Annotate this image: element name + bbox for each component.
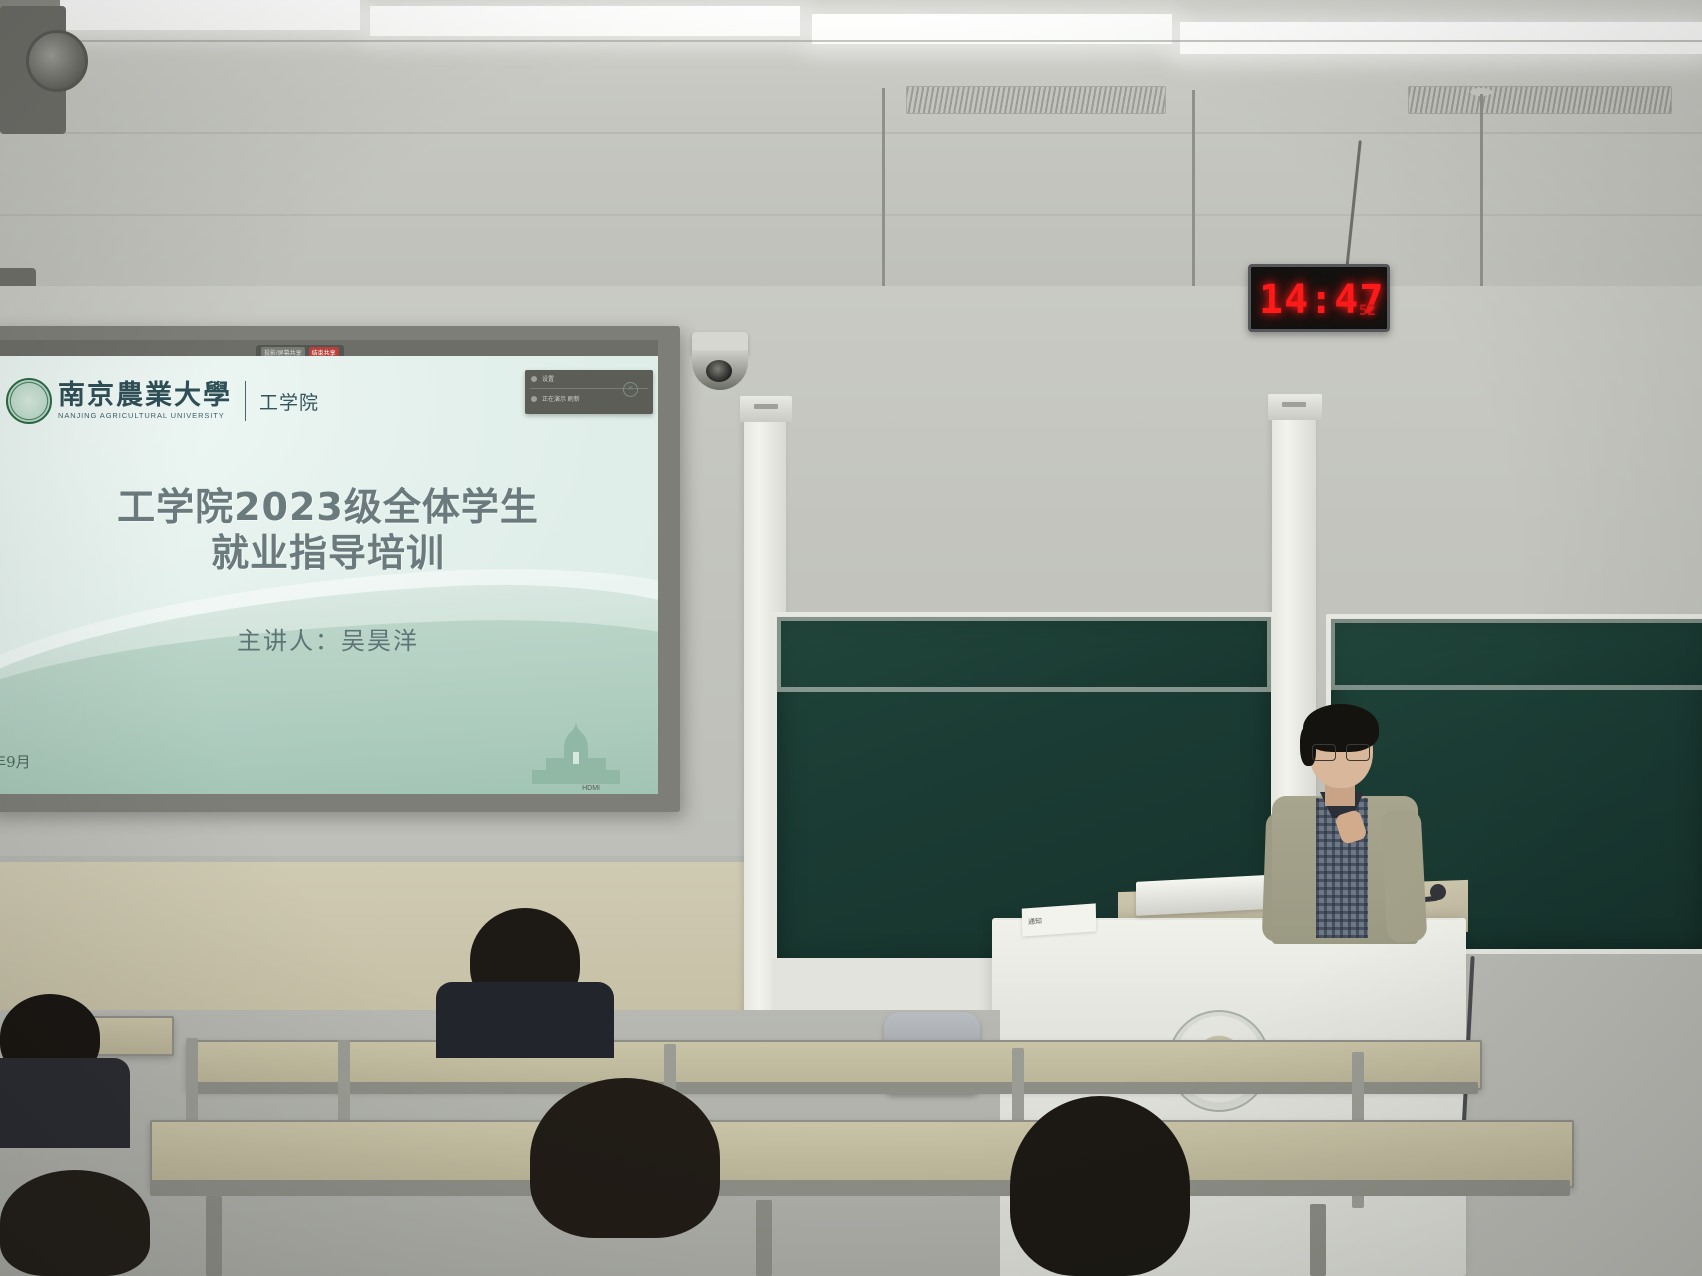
wall-pillar-left-cap [740,396,792,422]
popup-settings-label: 设置 [542,374,554,383]
bench-rail-far [186,1082,1478,1094]
audience-head-5 [0,1170,150,1276]
camera-lens-icon [706,360,732,382]
wall-pillar-left-slot [754,404,778,409]
slide-title: 工学院2023级全体学生 就业指导培训 [0,484,658,577]
ceiling-seam-1 [0,40,1702,42]
slide-title-line2: 就业指导培训 [0,530,658,576]
wall-digital-clock: 14:47 52 [1248,264,1390,332]
ceiling-light-panel-4 [1180,22,1702,54]
university-name-cn: 南京農業大學 [58,382,232,409]
slide-speaker-label: 主讲人：吴昊洋 [0,621,658,656]
wainscot-panel [0,860,760,1020]
slide-date-label: 25年9月 [0,751,31,772]
popup-status-label: 正在演示 刷新 [542,394,580,403]
presentation-slide: 南京農業大學 NANJING AGRICULTURAL UNIVERSITY 工… [0,356,658,794]
bench-row-near [150,1120,1574,1188]
blackboard-center-upper [776,616,1272,692]
close-icon[interactable]: × [623,382,638,397]
clock-seconds-display: 52 [1359,303,1376,319]
speaker-icon [531,376,537,382]
audience-body-1 [436,982,614,1058]
bench-leg-2 [756,1200,772,1276]
university-name-block: 南京農業大學 NANJING AGRICULTURAL UNIVERSITY [58,382,232,420]
lecture-hall-photo: 14:47 52 投影/屏幕共享 结束共享 [0,0,1702,1276]
bench-leg-1 [206,1196,222,1276]
university-seal-icon [6,378,52,424]
university-name-en: NANJING AGRICULTURAL UNIVERSITY [58,412,232,420]
slide-university-logo: 南京農業大學 NANJING AGRICULTURAL UNIVERSITY 工… [6,378,319,424]
college-name-cn: 工学院 [259,388,319,415]
podium-paper-note: 通知 [1022,903,1096,936]
ceiling-vent-right [1408,86,1672,114]
glasses-lens-right [1346,744,1370,761]
wainscot-trim [0,856,760,862]
audience-head-3 [530,1078,720,1238]
wall-pillar-right-cap [1268,394,1322,420]
campus-gate-icon [530,722,622,784]
mic-icon [531,396,537,402]
screen-input-label: HDMI [582,785,600,792]
ceiling-vent-left [906,86,1166,114]
wall-pillar-right-slot [1282,402,1306,407]
logo-divider [245,381,246,421]
projector-lens-icon [26,30,88,92]
blackboard-right-upper [1330,618,1702,690]
presenter-glasses-icon [1312,744,1370,759]
slide-title-line1: 工学院2023级全体学生 [0,484,658,530]
audience-head-4 [1010,1096,1190,1276]
bench-leg-3 [1310,1204,1326,1276]
ceiling-seam-3 [0,214,1702,216]
projection-screen-frame: 投影/屏幕共享 结束共享 南京農業大學 NANJING AGRICULTURAL… [0,326,680,812]
audience-body-2 [0,1058,130,1148]
ceiling-seam-2 [0,132,1702,134]
microphone-head [1430,884,1446,900]
glasses-lens-left [1312,744,1336,761]
bench-rail-near [150,1180,1570,1196]
projection-screen[interactable]: 投影/屏幕共享 结束共享 南京農業大學 NANJING AGRICULTURAL… [0,340,658,794]
presenter-right-arm [1381,809,1428,943]
podium-paper-note-text: 通知 [1028,916,1042,927]
ceiling-light-panel-2 [370,6,800,36]
